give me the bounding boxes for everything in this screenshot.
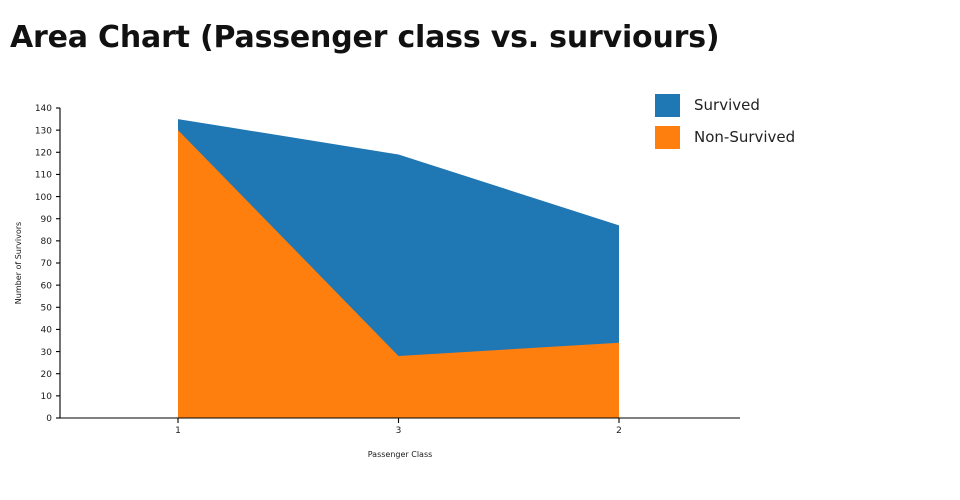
legend-item-non-survived[interactable]: Non-Survived [655,125,795,149]
y-tick-label: 40 [41,326,53,336]
legend-item-survived[interactable]: Survived [655,93,795,117]
chart-legend: Survived Non-Survived [655,93,795,149]
y-tick-label: 120 [35,148,52,158]
y-tick-label: 130 [35,126,52,136]
y-tick-label: 50 [41,303,53,313]
legend-swatch-non-survived [655,126,680,149]
y-tick-label: 140 [35,104,52,114]
y-tick-label: 110 [35,171,52,181]
y-tick-label: 100 [35,193,52,203]
y-tick-label: 10 [41,392,53,402]
x-tick-label: 3 [396,426,402,436]
y-tick-label: 0 [46,414,52,424]
x-axis-ticks: 132 [175,418,622,436]
y-axis-title: Number of Survivors [14,222,23,304]
x-tick-label: 2 [616,426,622,436]
y-tick-label: 20 [41,370,53,380]
y-tick-label: 90 [41,215,53,225]
y-axis-ticks: 0102030405060708090100110120130140 [35,104,60,424]
series-layer [178,119,619,418]
x-axis-title: Passenger Class [368,450,433,459]
plot-area: 0102030405060708090100110120130140 132 N… [0,0,960,500]
y-tick-label: 70 [41,259,53,269]
legend-label-non-survived: Non-Survived [694,128,795,146]
y-tick-label: 60 [41,281,53,291]
legend-swatch-survived [655,94,680,117]
x-tick-label: 1 [175,426,181,436]
y-tick-label: 30 [41,348,53,358]
y-tick-label: 80 [41,237,53,247]
area-chart: Area Chart (Passenger class vs. surviour… [0,0,960,500]
legend-label-survived: Survived [694,96,760,114]
